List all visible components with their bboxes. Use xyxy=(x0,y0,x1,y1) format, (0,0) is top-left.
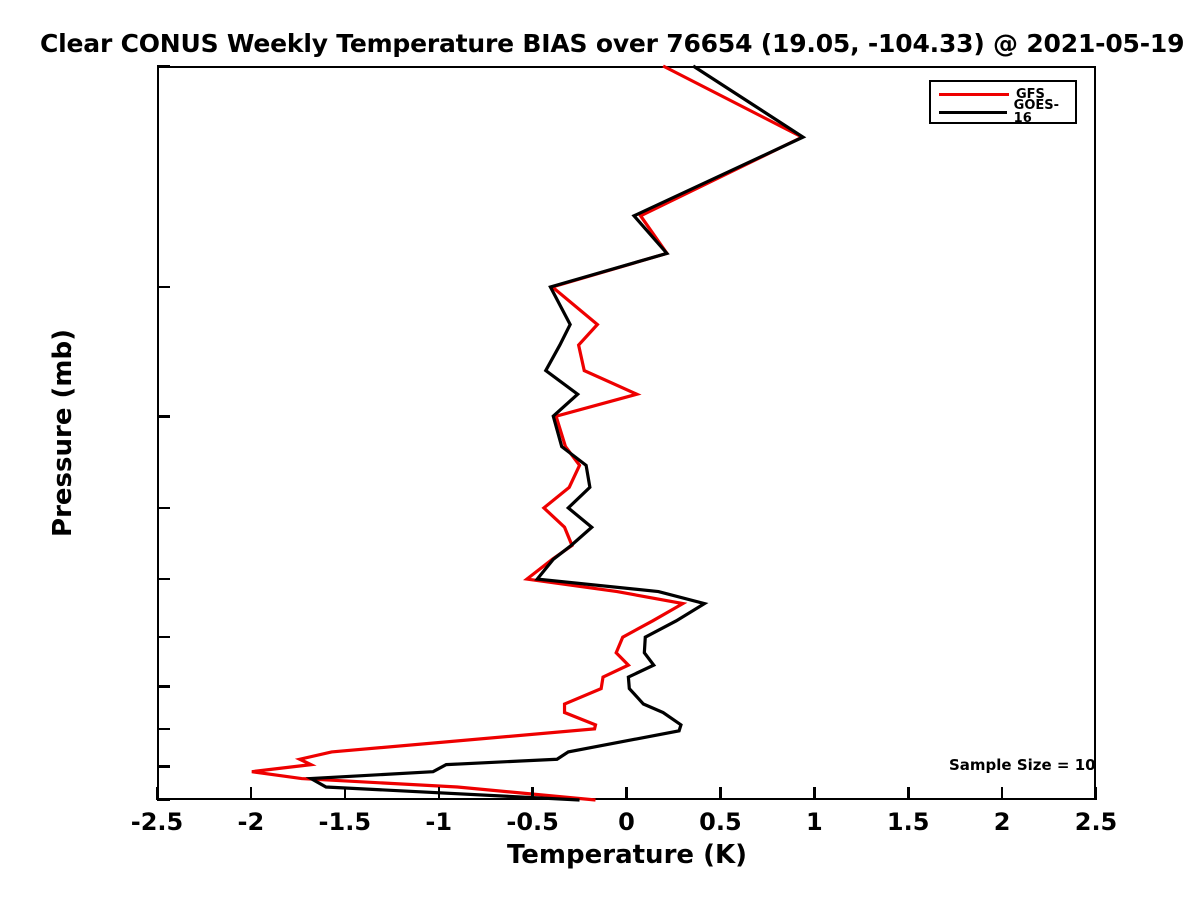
chart-figure: Clear CONUS Weekly Temperature BIAS over… xyxy=(0,0,1200,900)
x-tick-mark xyxy=(1001,787,1004,800)
y-tick-mark xyxy=(157,685,170,688)
x-tick-label: 0.5 xyxy=(699,808,742,836)
x-tick-mark xyxy=(156,787,159,800)
series-line-goes-16 xyxy=(311,66,803,800)
y-tick-mark xyxy=(157,728,170,731)
x-tick-label: -2 xyxy=(238,808,265,836)
x-tick-mark xyxy=(1095,787,1098,800)
sample-size-annotation: Sample Size = 10 xyxy=(949,756,1096,774)
legend-swatch-goes16 xyxy=(939,111,1007,114)
x-tick-mark xyxy=(813,787,816,800)
plot-area xyxy=(157,66,1096,800)
y-axis-label: Pressure (mb) xyxy=(48,329,78,537)
y-tick-mark xyxy=(157,507,170,510)
y-tick-mark xyxy=(157,286,170,289)
x-tick-label: -1 xyxy=(425,808,452,836)
x-tick-label: -2.5 xyxy=(131,808,183,836)
x-tick-mark xyxy=(438,787,441,800)
y-tick-mark xyxy=(157,799,170,802)
y-tick-mark xyxy=(157,415,170,418)
x-tick-label: -1.5 xyxy=(319,808,371,836)
x-tick-mark xyxy=(531,787,534,800)
x-axis-label: Temperature (K) xyxy=(507,840,747,870)
x-tick-mark xyxy=(625,787,628,800)
data-lines xyxy=(157,66,1096,800)
y-tick-mark xyxy=(157,65,170,68)
x-tick-label: -0.5 xyxy=(506,808,558,836)
x-tick-label: 2 xyxy=(994,808,1011,836)
x-tick-label: 0 xyxy=(618,808,635,836)
x-tick-mark xyxy=(250,787,253,800)
x-tick-mark xyxy=(907,787,910,800)
y-tick-mark xyxy=(157,578,170,581)
chart-title: Clear CONUS Weekly Temperature BIAS over… xyxy=(40,29,1184,58)
legend-label-goes16: GOES-16 xyxy=(1014,99,1075,125)
y-tick-mark xyxy=(157,636,170,639)
x-tick-label: 1.5 xyxy=(887,808,930,836)
legend: GFS GOES-16 xyxy=(929,80,1077,124)
x-tick-mark xyxy=(344,787,347,800)
legend-entry-goes16: GOES-16 xyxy=(931,102,1075,122)
y-tick-mark xyxy=(157,765,170,768)
x-tick-label: 2.5 xyxy=(1075,808,1118,836)
x-tick-mark xyxy=(719,787,722,800)
x-tick-label: 1 xyxy=(806,808,823,836)
legend-swatch-gfs xyxy=(939,93,1009,96)
